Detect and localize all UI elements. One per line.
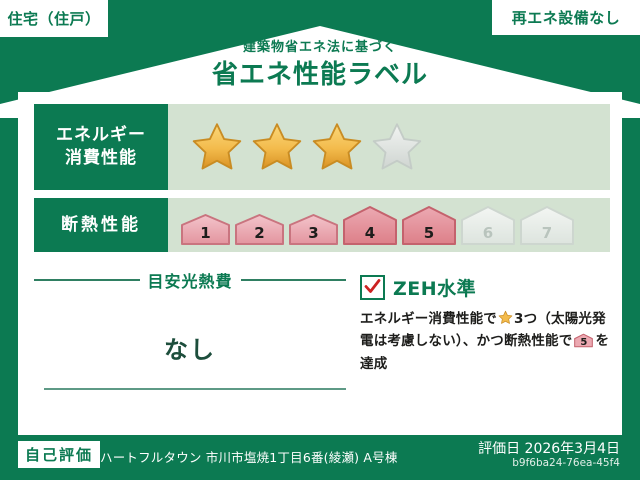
tag-renewable-energy: 再エネ設備なし <box>492 0 640 35</box>
insulation-house-7-label: 7 <box>519 224 575 242</box>
insulation-house-2: 2 <box>234 213 285 246</box>
utility-cost-block: 目安光熱費 なし <box>34 262 346 412</box>
content-panel: エネルギー 消費性能 <box>18 92 622 435</box>
lower-section: 目安光熱費 なし ZEH水準 エネルギー消費性能で3つ（太陽光発電は考慮しな <box>34 262 610 412</box>
row-energy-performance: エネルギー 消費性能 <box>34 104 610 190</box>
row-energy-label: エネルギー 消費性能 <box>34 104 168 190</box>
tag-housing-type-label: 住宅（住戸） <box>7 8 100 29</box>
zeh-desc-part1: エネルギー消費性能で <box>360 311 497 327</box>
star-icon-filled-3 <box>310 120 364 174</box>
utility-cost-value: なし <box>34 330 346 365</box>
insulation-house-4: 4 <box>342 205 398 246</box>
insulation-house-4-label: 4 <box>342 224 398 242</box>
star-icon-filled-1 <box>190 120 244 174</box>
insulation-house-6: 6 <box>460 205 516 246</box>
tag-renewable-energy-label: 再エネ設備なし <box>512 7 621 28</box>
insulation-house-5-label: 5 <box>401 224 457 242</box>
self-evaluation-badge: 自己評価 <box>18 441 100 468</box>
utility-cost-bottom-rule <box>44 388 346 390</box>
row-energy-label-line1: エネルギー <box>56 124 146 147</box>
rule-right <box>241 279 347 281</box>
zeh-checkbox[interactable] <box>360 275 385 300</box>
star-icon-filled-2 <box>250 120 304 174</box>
star-rating <box>190 120 424 174</box>
insulation-house-2-label: 2 <box>234 224 285 242</box>
row-insulation-label-text: 断熱性能 <box>61 214 141 237</box>
evaluation-id: b9f6ba24-76ea-45f4 <box>512 457 620 469</box>
row-insulation-label: 断熱性能 <box>34 198 168 252</box>
insulation-house-3-label: 3 <box>288 224 339 242</box>
rule-left <box>34 279 140 281</box>
tag-housing-type: 住宅（住戸） <box>0 0 108 37</box>
footer: 自己評価 ハートフルタウン 市川市塩焼1丁目6番(綾瀬) A号棟 評価日 202… <box>0 435 640 480</box>
zeh-title: ZEH水準 <box>393 274 476 301</box>
row-insulation-value: 1 2 3 <box>168 198 610 252</box>
property-name: ハートフルタウン 市川市塩焼1丁目6番(綾瀬) A号棟 <box>100 447 398 466</box>
energy-label-card: 住宅（住戸） 再エネ設備なし 建築物省エネ法に基づく 省エネ性能ラベル エネルギ… <box>0 0 640 480</box>
star-icon-inline <box>498 310 513 325</box>
zeh-block: ZEH水準 エネルギー消費性能で3つ（太陽光発電は考慮しない）、かつ断熱性能で5… <box>346 262 610 412</box>
insulation-house-icon-inline-label: 5 <box>574 338 593 348</box>
zeh-heading: ZEH水準 <box>360 274 610 301</box>
insulation-house-1: 1 <box>180 213 231 246</box>
insulation-house-icon-inline: 5 <box>574 333 593 348</box>
star-icon-empty-4 <box>370 120 424 174</box>
insulation-house-5: 5 <box>401 205 457 246</box>
zeh-description: エネルギー消費性能で3つ（太陽光発電は考慮しない）、かつ断熱性能で5を達成 <box>360 308 610 375</box>
row-energy-label-line2: 消費性能 <box>65 147 137 170</box>
utility-cost-heading: 目安光熱費 <box>34 268 346 292</box>
insulation-house-3: 3 <box>288 213 339 246</box>
row-energy-value <box>168 104 610 190</box>
insulation-house-7: 7 <box>519 205 575 246</box>
insulation-scale: 1 2 3 <box>180 205 575 246</box>
utility-cost-heading-label: 目安光熱費 <box>148 268 233 292</box>
zeh-desc-part3: は考慮しない）、かつ断熱性能で <box>374 333 573 349</box>
row-insulation-performance: 断熱性能 1 <box>34 198 610 252</box>
evaluation-date: 評価日 2026年3月4日 <box>478 438 620 458</box>
insulation-house-6-label: 6 <box>460 224 516 242</box>
insulation-house-1-label: 1 <box>180 224 231 242</box>
check-icon <box>363 277 382 296</box>
